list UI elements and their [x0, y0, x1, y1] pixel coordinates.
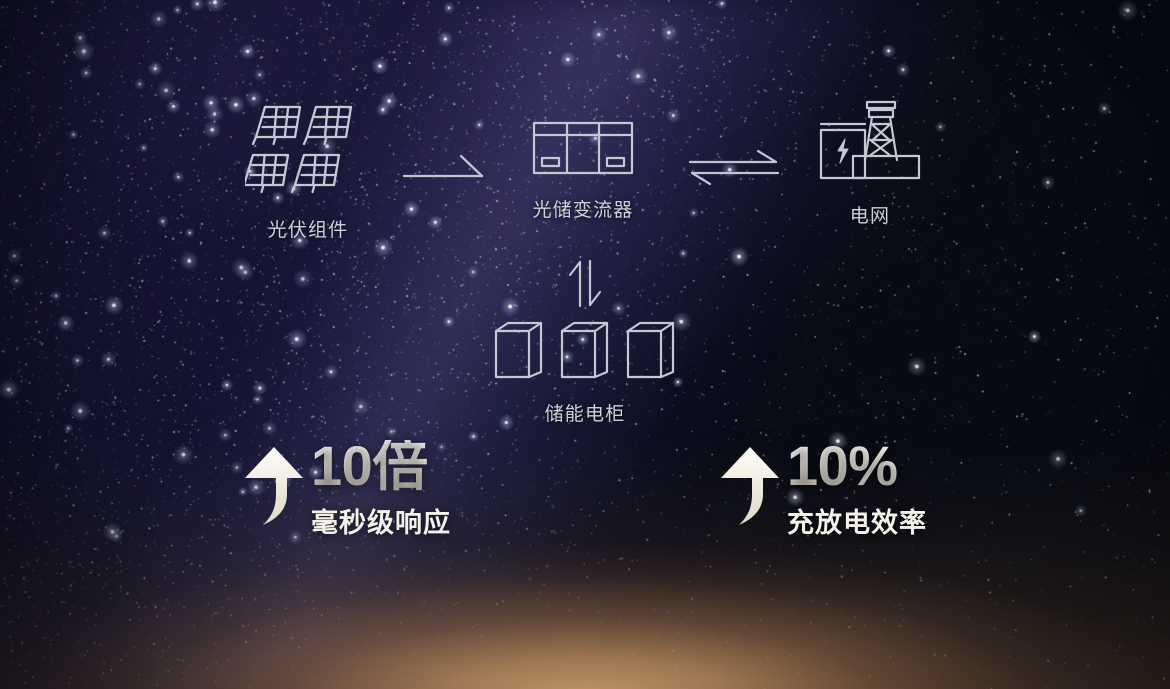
arrow-up-curved-icon [243, 445, 305, 532]
stat-charge-efficiency-text: 10% 充放电效率 [787, 440, 927, 540]
diagram-node-inverter[interactable]: 光储变流器 [508, 120, 658, 222]
stats-row: 10倍 毫秒级响应 10% 充 [0, 440, 1170, 540]
infographic-stage: 光伏组件 光储变流器 [0, 0, 1170, 689]
connector-inverter-to-grid [686, 148, 782, 193]
arrow-up-curved-icon [719, 445, 781, 532]
arrow-right-icon [400, 171, 488, 188]
stat-response-speed[interactable]: 10倍 毫秒级响应 [243, 440, 451, 540]
connector-pv-to-inverter [400, 150, 488, 189]
diagram-node-grid[interactable]: 电网 [795, 98, 945, 228]
stat-charge-efficiency[interactable]: 10% 充放电效率 [719, 440, 927, 540]
diagram-node-battery-label: 储能电柜 [545, 399, 626, 426]
diagram-node-grid-label: 电网 [850, 201, 890, 228]
diagram-node-inverter-label: 光储变流器 [532, 195, 633, 222]
stat-response-speed-text: 10倍 毫秒级响应 [311, 440, 451, 540]
pcs-inverter-cabinet-icon [531, 120, 635, 181]
arrow-bidirectional-vertical-icon [564, 297, 606, 314]
power-grid-tower-icon [810, 98, 930, 187]
diagram-node-pv[interactable]: 光伏组件 [233, 100, 383, 242]
battery-cabinet-row-icon [493, 318, 677, 385]
solar-panel-array-icon [245, 100, 371, 201]
diagram-node-battery[interactable]: 储能电柜 [490, 318, 680, 426]
arrow-bidirectional-icon [686, 175, 782, 192]
stat-response-speed-caption: 毫秒级响应 [311, 501, 451, 540]
stat-charge-efficiency-caption: 充放电效率 [787, 501, 927, 540]
stat-response-speed-value: 10倍 [311, 440, 451, 493]
stat-charge-efficiency-value: 10% [787, 440, 927, 493]
diagram-node-pv-label: 光伏组件 [268, 215, 349, 242]
connector-inverter-to-battery [564, 258, 606, 315]
